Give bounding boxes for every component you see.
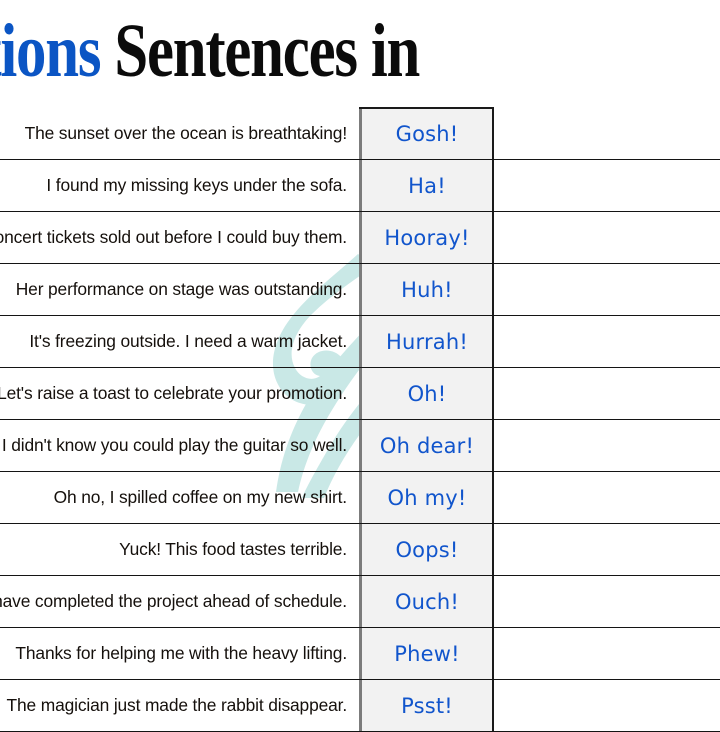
example-sentence-right-cell: Ha! That joke y xyxy=(494,160,720,211)
table-row: Thanks for helping me with the heavy lif… xyxy=(0,628,720,680)
interjection-cell: Oh! xyxy=(359,368,494,419)
example-sentence-left-cell: We have completed the project ahead of s… xyxy=(0,576,359,627)
interjection-cell: Oh dear! xyxy=(359,420,494,471)
interjections-table: The sunset over the ocean is breathtakin… xyxy=(0,108,720,732)
example-sentence-left-cell: The sunset over the ocean is breathtakin… xyxy=(0,108,359,159)
table-row: The concert tickets sold out before I co… xyxy=(0,212,720,264)
table-row: Yuck! This food tastes terrible. Oops! O… xyxy=(0,524,720,576)
example-sentence-right-cell: Phew, I finished the xyxy=(494,628,720,679)
interjection-cell: Oh my! xyxy=(359,472,494,523)
table-row: I found my missing keys under the sofa. … xyxy=(0,160,720,212)
interjection-cell: Hurrah! xyxy=(359,316,494,367)
interjection-cell: Psst! xyxy=(359,680,494,731)
example-sentence-right-cell: Hooray! Our team xyxy=(494,212,720,263)
example-sentence-right-cell: Oh my! You got a xyxy=(494,472,720,523)
table-row: The magician just made the rabbit disapp… xyxy=(0,680,720,732)
page-title-blue-part: Interjections xyxy=(0,9,100,93)
example-sentence-right-cell: Oops, I dropped my ph xyxy=(494,524,720,575)
example-sentence-right-cell: Oh dear, I hope ev xyxy=(494,420,720,471)
table-row: We have completed the project ahead of s… xyxy=(0,576,720,628)
example-sentence-right-cell: Gosh, I can't believe it's xyxy=(494,108,720,159)
interjection-cell: Ouch! xyxy=(359,576,494,627)
interjection-cell: Oops! xyxy=(359,524,494,575)
page-title: Interjections Sentences in xyxy=(0,0,720,100)
example-sentence-right-cell: Oh, I forgot to buy g xyxy=(494,368,720,419)
table-row: The sunset over the ocean is breathtakin… xyxy=(0,108,720,160)
example-sentence-left-cell: Her performance on stage was outstanding… xyxy=(0,264,359,315)
example-sentence-right-cell: Ouch! That wa xyxy=(494,576,720,627)
middle-column-top-border xyxy=(359,107,494,109)
example-sentence-left-cell: Oh no, I spilled coffee on my new shirt. xyxy=(0,472,359,523)
table-row: It's freezing outside. I need a warm jac… xyxy=(0,316,720,368)
example-sentence-left-cell: I didn't know you could play the guitar … xyxy=(0,420,359,471)
table-row: Oh no, I spilled coffee on my new shirt.… xyxy=(0,472,720,524)
interjection-cell: Hooray! xyxy=(359,212,494,263)
example-sentence-left-cell: Thanks for helping me with the heavy lif… xyxy=(0,628,359,679)
table-row: Her performance on stage was outstanding… xyxy=(0,264,720,316)
example-sentence-left-cell: The magician just made the rabbit disapp… xyxy=(0,680,359,731)
interjection-cell: Gosh! xyxy=(359,108,494,159)
interjection-cell: Ha! xyxy=(359,160,494,211)
example-sentence-right-cell: Psst, I have a se xyxy=(494,680,720,731)
example-sentence-right-cell: Huh, I never thought abou xyxy=(494,264,720,315)
example-sentence-left-cell: It's freezing outside. I need a warm jac… xyxy=(0,316,359,367)
example-sentence-left-cell: Yuck! This food tastes terrible. xyxy=(0,524,359,575)
example-sentence-left-cell: The concert tickets sold out before I co… xyxy=(0,212,359,263)
example-sentence-left-cell: I found my missing keys under the sofa. xyxy=(0,160,359,211)
page-title-text: Interjections Sentences in xyxy=(0,12,419,90)
example-sentence-left-cell: Let's raise a toast to celebrate your pr… xyxy=(0,368,359,419)
interjection-cell: Huh! xyxy=(359,264,494,315)
interjection-cell: Phew! xyxy=(359,628,494,679)
table-row: I didn't know you could play the guitar … xyxy=(0,420,720,472)
page-title-black-part: Sentences in xyxy=(100,9,419,93)
table-row: Let's raise a toast to celebrate your pr… xyxy=(0,368,720,420)
example-sentence-right-cell: Hurrah! The long-awa xyxy=(494,316,720,367)
